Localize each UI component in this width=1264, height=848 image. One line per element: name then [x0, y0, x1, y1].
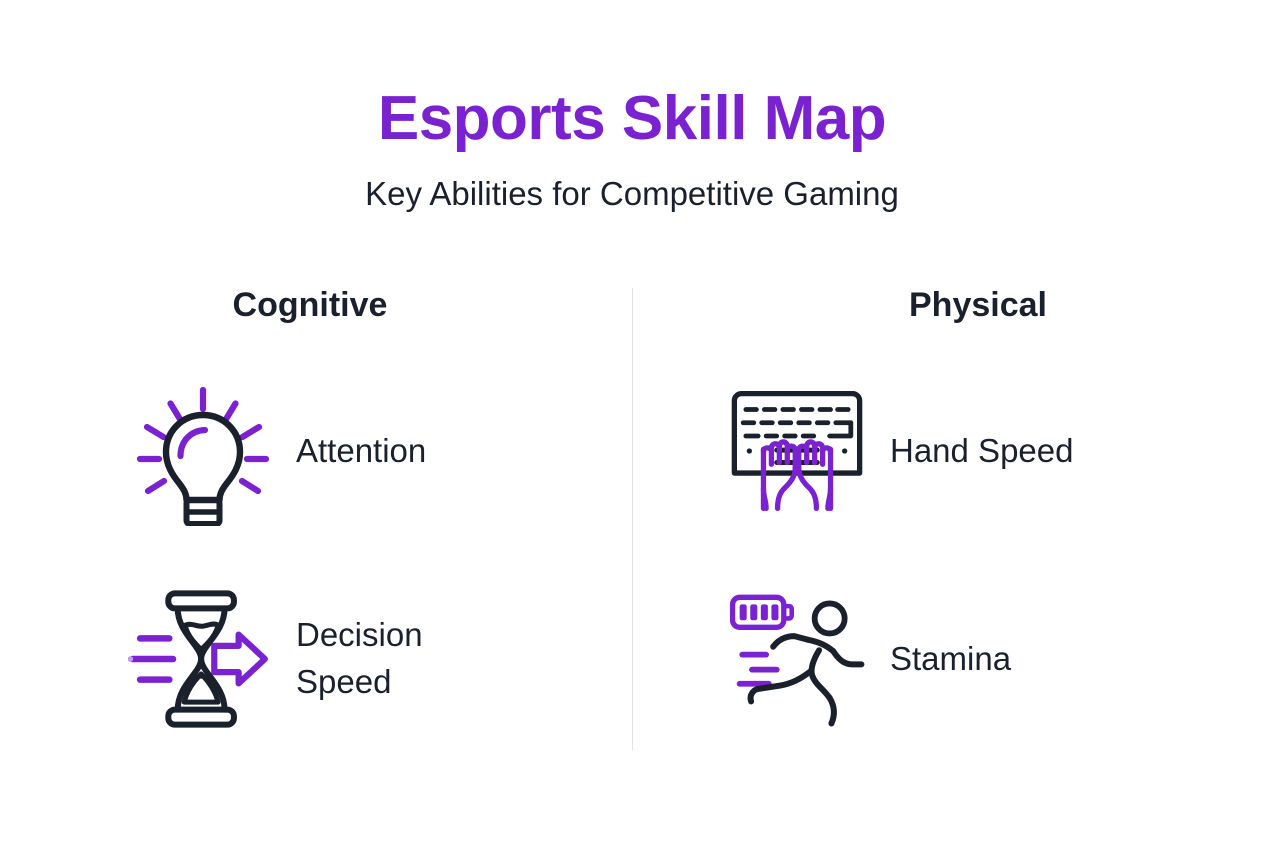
skill-item-stamina[interactable]: Stamina: [632, 584, 1264, 734]
column-heading-physical: Physical: [692, 288, 1264, 322]
skill-item-decision-speed[interactable]: Decision Speed: [0, 584, 632, 734]
skill-label-stamina: Stamina: [890, 636, 1011, 683]
page-title: Esports Skill Map: [0, 86, 1264, 153]
runner-battery-icon: [722, 584, 872, 734]
columns-container: Cognitive: [0, 288, 1264, 756]
column-cognitive: Cognitive: [0, 288, 632, 756]
skill-list-physical: Hand Speed: [632, 376, 1264, 734]
header: Esports Skill Map Key Abilities for Comp…: [0, 86, 1264, 213]
skill-item-hand-speed[interactable]: Hand Speed: [632, 376, 1264, 526]
keyboard-hands-icon: [722, 376, 872, 526]
lightbulb-icon: [128, 376, 278, 526]
row-spacer: [0, 526, 632, 584]
skill-item-attention[interactable]: Attention: [0, 376, 632, 526]
column-physical: Physical: [632, 288, 1264, 756]
skill-list-cognitive: Attention: [0, 376, 632, 734]
column-heading-cognitive: Cognitive: [0, 288, 632, 322]
page-subtitle: Key Abilities for Competitive Gaming: [0, 175, 1264, 213]
hourglass-arrow-icon: [128, 584, 278, 734]
infographic-page: Esports Skill Map Key Abilities for Comp…: [0, 0, 1264, 848]
skill-label-attention: Attention: [296, 428, 426, 475]
skill-label-decision-speed: Decision Speed: [296, 612, 501, 706]
skill-label-hand-speed: Hand Speed: [890, 428, 1073, 475]
row-spacer: [632, 526, 1264, 584]
